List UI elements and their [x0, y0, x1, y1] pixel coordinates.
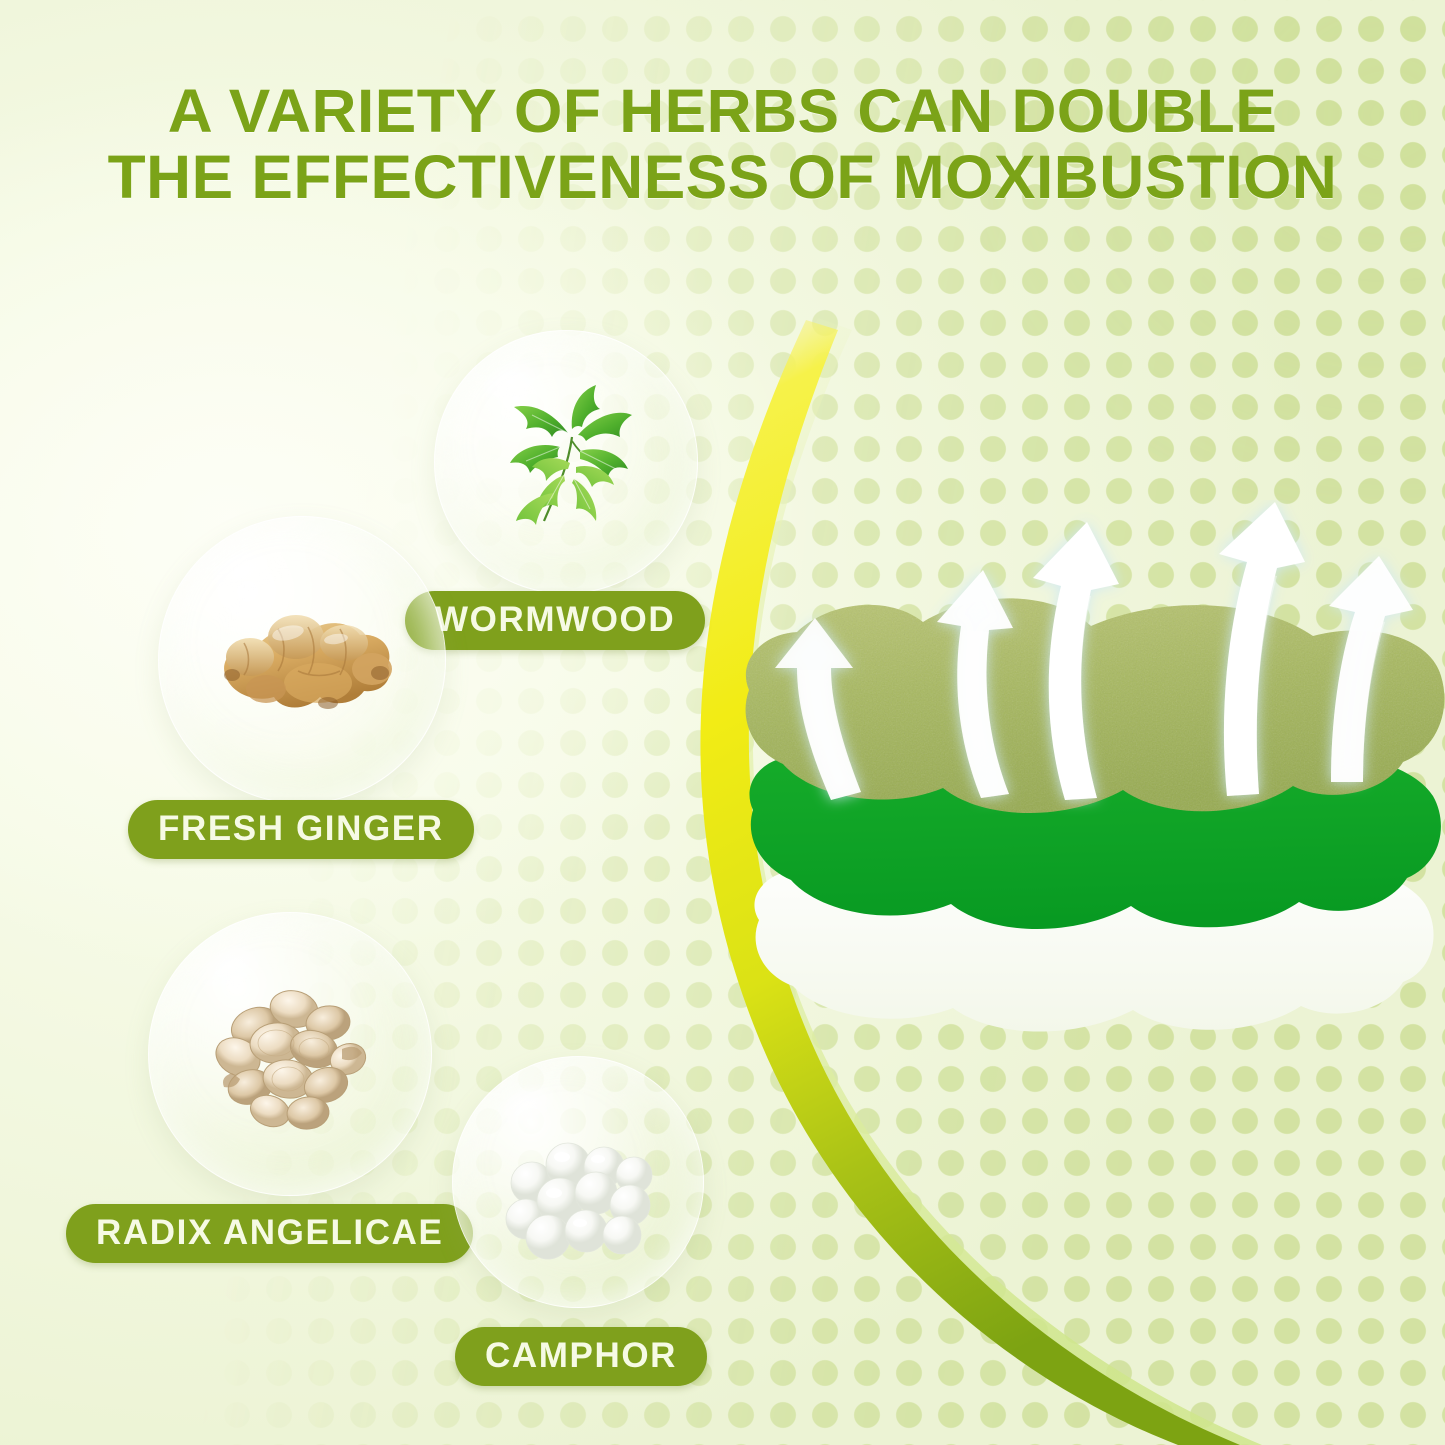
ingredient-label-radix-angelicae: RADIX ANGELICAE	[66, 1204, 473, 1263]
infographic-canvas: A VARIETY OF HERBS CAN DOUBLE THE EFFECT…	[0, 0, 1445, 1445]
ingredient-bubble-radix-angelicae	[148, 912, 432, 1196]
ingredient-bubble-fresh-ginger	[158, 516, 446, 804]
camphor-balls-icon	[453, 1057, 703, 1307]
dried-root-slices-icon	[149, 913, 431, 1195]
ingredient-bubble-wormwood	[434, 330, 698, 594]
moxibustion-patch-illustration	[735, 500, 1445, 1120]
page-title: A VARIETY OF HERBS CAN DOUBLE THE EFFECT…	[0, 78, 1445, 211]
ginger-root-icon	[159, 517, 445, 803]
wormwood-leaves-icon	[435, 331, 697, 593]
ingredient-label-camphor: CAMPHOR	[455, 1327, 707, 1386]
ingredient-label-fresh-ginger: FRESH GINGER	[128, 800, 474, 859]
ingredient-bubble-camphor	[452, 1056, 704, 1308]
ingredient-label-wormwood: WORMWOOD	[405, 591, 705, 650]
